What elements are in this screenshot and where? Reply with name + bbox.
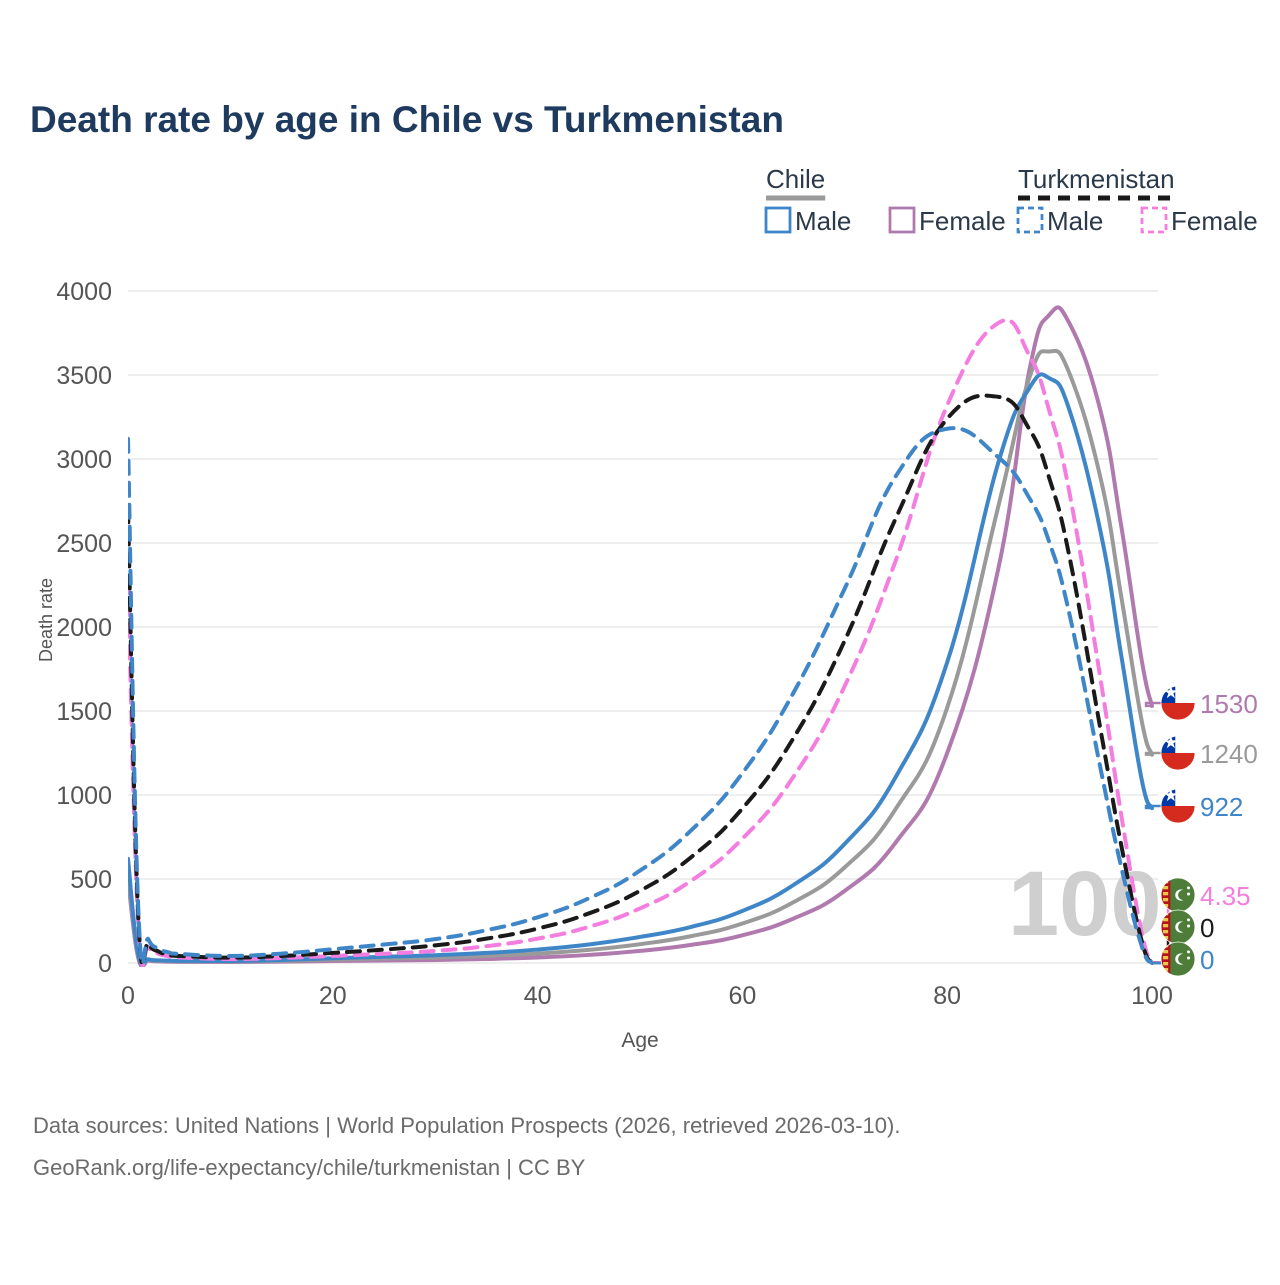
x-tick-label: 60: [728, 982, 756, 1010]
y-tick-label: 500: [70, 866, 112, 894]
turkmenistan-flag-icon: [1161, 878, 1195, 912]
turkmenistan-flag-icon: [1161, 910, 1195, 944]
y-tick-label: 2500: [56, 530, 112, 558]
turkmenistan-total-end-label: 0: [1200, 913, 1214, 943]
legend-label-turkmenistan-female[interactable]: Female: [1171, 206, 1258, 236]
footer-line-2: GeoRank.org/life-expectancy/chile/turkme…: [33, 1155, 586, 1180]
x-axis-label: Age: [621, 1029, 658, 1052]
turkmenistan-male-end-label: 0: [1200, 945, 1214, 975]
chile-female-end-label: 1530: [1200, 689, 1258, 719]
y-tick-label: 2000: [56, 614, 112, 642]
legend-label-chile-female[interactable]: Female: [919, 206, 1006, 236]
legend-label-chile-male[interactable]: Male: [795, 206, 851, 236]
turkmenistan-female-end-label: 4.35: [1200, 881, 1251, 911]
chile-total-end-label: 1240: [1200, 739, 1258, 769]
x-tick-label: 100: [1131, 982, 1173, 1010]
page-title: Death rate by age in Chile vs Turkmenist…: [30, 99, 784, 140]
x-tick-label: 0: [121, 982, 135, 1010]
x-tick-label: 20: [319, 982, 347, 1010]
chart-container: Death rate by age in Chile vs Turkmenist…: [0, 0, 1280, 1280]
y-axis-label: Death rate: [36, 578, 56, 662]
death-rate-chart: Death rate by age in Chile vs Turkmenist…: [0, 0, 1280, 1280]
legend-country-turkmenistan: Turkmenistan: [1018, 164, 1175, 194]
y-tick-label: 1500: [56, 698, 112, 726]
legend-country-chile: Chile: [766, 164, 825, 194]
x-tick-label: 40: [524, 982, 552, 1010]
footer-line-1: Data sources: United Nations | World Pop…: [33, 1113, 900, 1138]
y-tick-label: 3500: [56, 362, 112, 390]
legend-label-turkmenistan-male[interactable]: Male: [1047, 206, 1103, 236]
turkmenistan-flag-icon: [1161, 942, 1195, 976]
x-tick-label: 80: [933, 982, 961, 1010]
y-tick-label: 4000: [56, 278, 112, 306]
chile-male-end-label: 922: [1200, 792, 1243, 822]
y-tick-label: 3000: [56, 446, 112, 474]
y-tick-label: 0: [98, 950, 112, 978]
y-tick-label: 1000: [56, 782, 112, 810]
